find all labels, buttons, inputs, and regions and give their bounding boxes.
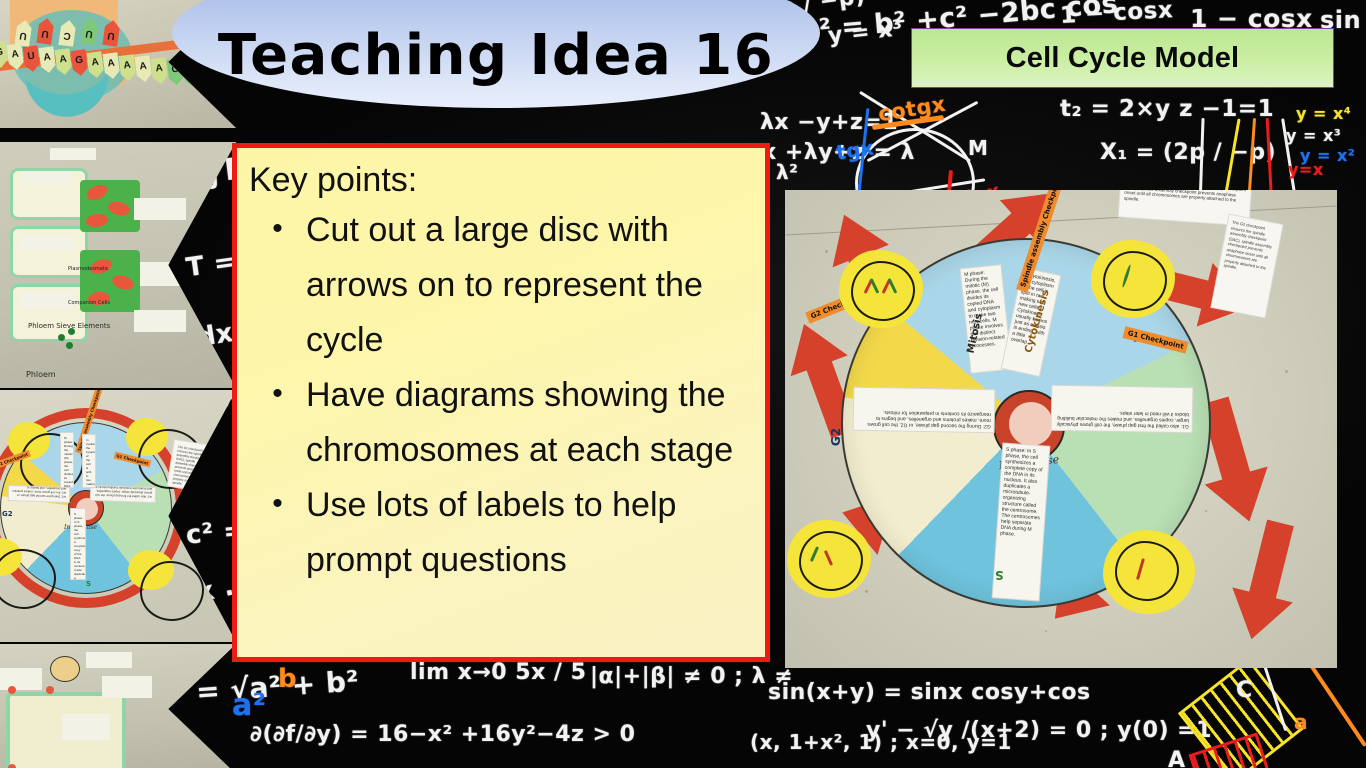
- chalk-formula: ∂(∂f/∂y) = 16−x² +16y²−4z > 0: [250, 722, 635, 747]
- label-chip: [20, 236, 74, 250]
- key-point-text: Cut out a large disc with arrows on to r…: [306, 203, 749, 368]
- topic-banner: Cell Cycle Model: [911, 28, 1334, 88]
- label-chip: [102, 676, 152, 698]
- key-point-item: • Cut out a large disc with arrows on to…: [249, 203, 749, 368]
- key-points-heading: Key points:: [249, 162, 749, 199]
- cell-stage-diagram: [1103, 530, 1195, 614]
- topic-banner-label: Cell Cycle Model: [1006, 42, 1240, 75]
- nucleotide: A: [134, 55, 152, 83]
- label-chip: [86, 652, 132, 668]
- chalk-formula-blue: a²: [232, 688, 266, 723]
- chalk-formula: sin(x+y) = sinx cosy+cos: [768, 680, 1091, 705]
- label-chip: [134, 198, 186, 220]
- key-point-item: • Have diagrams showing the chromosomes …: [249, 368, 749, 478]
- label-chip: [50, 148, 96, 160]
- plant-defence-photo: [0, 644, 236, 768]
- receptor-dot: [46, 686, 54, 694]
- mini-phase-label: G2: [2, 510, 13, 518]
- page-title: Teaching Idea 16: [196, 14, 796, 98]
- chalk-formula: 1 − cosx: [1059, 0, 1173, 29]
- cell-cycle-mini-photo: Interphase G2 Checkpoint Spindle assembl…: [0, 390, 236, 642]
- mini-phase-label: S: [86, 580, 91, 588]
- chalk-formula: λx −y+z=1: [760, 110, 898, 135]
- info-sheet-g1-checkpoint: The G2 checkpoint ensures the spindle as…: [1210, 214, 1283, 319]
- nucleotide: C: [166, 58, 184, 86]
- phase-name-s: S: [995, 568, 1004, 582]
- cell-stage-diagram: [787, 520, 871, 598]
- chalk-formula-yellow: y = x⁴: [1296, 104, 1351, 123]
- cell-stage-diagram: [1091, 240, 1175, 318]
- label-chip: [0, 668, 42, 690]
- key-point-text: Have diagrams showing the chromosomes at…: [306, 368, 749, 478]
- cell-cycle-wheel: Interphase G1: also called the first gap…: [803, 208, 1243, 648]
- slide-canvas: a² = b² +c² −2bc cos 1 − cosx 1 − cosx s…: [0, 0, 1366, 768]
- poster-handwriting: Companion Cells: [68, 300, 110, 306]
- pathogen-shape: [50, 656, 80, 682]
- phase-description-g2: G2: During the second gap phase, or G2, …: [853, 387, 996, 433]
- mini-cell-blob: [126, 418, 168, 456]
- bullet-glyph: •: [249, 478, 306, 531]
- label-chip: [22, 172, 72, 184]
- mini-paper-sheet: The G2 checkpoint ensures the spindle as…: [167, 439, 216, 493]
- chalk-formula: |α|+|β| ≠ 0 ; λ ≠: [590, 664, 793, 689]
- label-chip: [62, 714, 110, 740]
- chalk-label: A: [1168, 748, 1186, 768]
- chalk-formula: λ²: [776, 160, 798, 184]
- chalk-label: M: [968, 136, 988, 160]
- cell-cycle-model-photo[interactable]: Interphase G1: also called the first gap…: [785, 190, 1337, 668]
- chalk-formula-orange: b: [278, 664, 297, 694]
- sidebar-item-phloem-poster[interactable]: Phloem Sieve Elements Phloem Plasmodesma…: [0, 142, 236, 388]
- mini-label-strip: In cytokinesis, the cytoplasm of the cel…: [82, 434, 96, 488]
- chalk-formula: y = x³: [1286, 126, 1341, 145]
- sidebar-thumbnail-strip: G A U A A G A A A A A C C G T U U C U U: [0, 0, 236, 768]
- receptor-dot: [8, 764, 16, 768]
- phase-description-g1: G1: also called the first gap phase, the…: [1051, 385, 1194, 433]
- phloem-poster-photo: Phloem Sieve Elements Phloem Plasmodesma…: [0, 142, 236, 388]
- chalk-label: C: [1236, 678, 1253, 703]
- chalk-formula: lim x→0 5x / 5: [410, 660, 586, 685]
- cell-stage-diagram: [839, 250, 923, 328]
- chalk-formula: y' − √y /(x+2) = 0 ; y(0) =1: [866, 718, 1212, 743]
- key-point-item: • Use lots of labels to help prompt ques…: [249, 478, 749, 588]
- bullet-glyph: •: [249, 368, 306, 421]
- mini-label-strip: G1: also called the first gap phase, the…: [90, 485, 157, 503]
- chalk-formula-blue: y = x²: [1300, 146, 1355, 165]
- sucrose-dot: [66, 342, 73, 349]
- mini-label-strip: S phase: In S phase, the cell synthesize…: [70, 508, 86, 580]
- label-chip: [140, 262, 192, 286]
- nucleotide: A: [150, 57, 168, 85]
- sidebar-item-plant-defence-poster[interactable]: [0, 644, 236, 768]
- key-points-box: Key points: • Cut out a large disc with …: [232, 143, 770, 662]
- mini-label-strip: M phase: During the mitotic (M) phase, t…: [60, 432, 74, 488]
- label-chip: [134, 310, 186, 332]
- sucrose-dot: [58, 334, 65, 341]
- poster-handwriting: Phloem: [26, 370, 56, 379]
- key-point-text: Use lots of labels to help prompt questi…: [306, 478, 749, 588]
- interphase-hub-inner: [1009, 402, 1053, 446]
- poster-handwriting: Plasmodesmata: [68, 266, 108, 272]
- receptor-dot: [8, 686, 16, 694]
- phase-name-g2: G2: [829, 428, 843, 446]
- chalk-formula-orange: a: [1294, 710, 1308, 734]
- mini-cell-blob: [128, 550, 174, 590]
- chalk-formula: t₂ = 2×y z −1=1: [1060, 96, 1274, 122]
- sucrose-dot: [68, 328, 75, 335]
- bullet-glyph: •: [249, 203, 306, 256]
- sidebar-item-cell-cycle-photo[interactable]: Interphase G2 Checkpoint Spindle assembl…: [0, 390, 236, 642]
